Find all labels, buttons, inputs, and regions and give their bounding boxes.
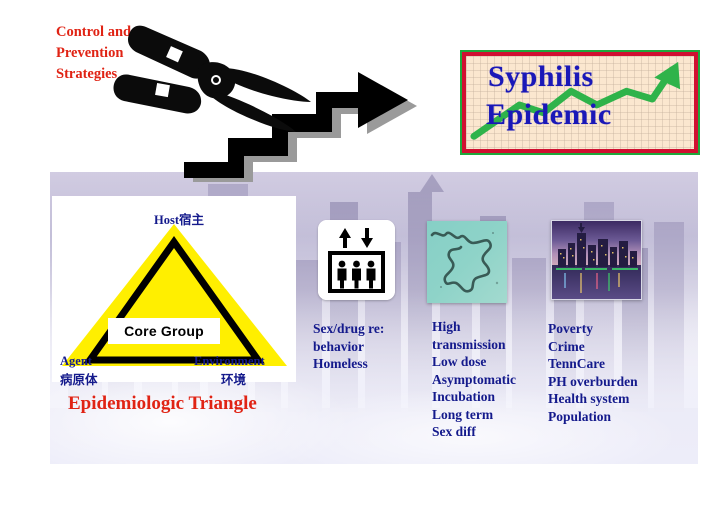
triangle-vertex-agent: Agent xyxy=(60,354,92,369)
list-item: behavior xyxy=(313,338,384,356)
syphilis-word: Syphilis xyxy=(488,62,594,92)
triangle-vertex-host: Host宿主 xyxy=(154,209,204,228)
list-item: transmission xyxy=(432,336,516,354)
triangle-vertex-environment-cn: 环境 xyxy=(221,369,246,388)
list-item: Asymptomatic xyxy=(432,371,516,389)
list-item: Crime xyxy=(548,338,638,356)
epidemic-word: Epidemic xyxy=(486,100,612,130)
elevator-sign-image xyxy=(318,220,395,300)
city-skyline-night-image xyxy=(551,220,642,300)
list-item: PH overburden xyxy=(548,373,638,391)
environment-factors-column: Poverty Crime TennCare PH overburden Hea… xyxy=(548,320,638,425)
syphilis-box-inner: Syphilis Epidemic xyxy=(466,56,694,149)
list-item: Low dose xyxy=(432,353,516,371)
list-item: Sex/drug re: xyxy=(313,320,384,338)
behavior-factors-column: Sex/drug re: behavior Homeless xyxy=(313,320,384,373)
agent-factors-column: High transmission Low dose Asymptomatic … xyxy=(432,318,516,441)
list-item: Long term xyxy=(432,406,516,424)
spirochete-shape xyxy=(427,221,507,303)
pruning-shears-icon xyxy=(112,14,332,139)
list-item: High xyxy=(432,318,516,336)
triangle-vertex-environment: Environment xyxy=(194,354,265,369)
list-item: Incubation xyxy=(432,388,516,406)
list-item: Health system xyxy=(548,390,638,408)
list-item: Population xyxy=(548,408,638,426)
list-item: Homeless xyxy=(313,355,384,373)
syphilis-epidemic-box: Syphilis Epidemic xyxy=(460,50,700,155)
list-item: Sex diff xyxy=(432,423,516,441)
epidemiologic-triangle-graphic: Host宿主 Agent 病原体 Environment 环境 Core Gro… xyxy=(60,206,290,386)
epidemiologic-triangle-caption: Epidemiologic Triangle xyxy=(68,393,257,415)
spirochete-micrograph-image xyxy=(427,221,507,303)
core-group-label: Core Group xyxy=(108,318,220,344)
slide-canvas: Control and Prevention Strategies xyxy=(0,0,720,508)
list-item: Poverty xyxy=(548,320,638,338)
triangle-vertex-agent-cn: 病原体 xyxy=(60,369,98,388)
triangle-shape xyxy=(60,220,290,370)
elevator-sign-shape xyxy=(318,220,395,300)
list-item: TennCare xyxy=(548,355,638,373)
night-city-shape xyxy=(552,221,641,299)
